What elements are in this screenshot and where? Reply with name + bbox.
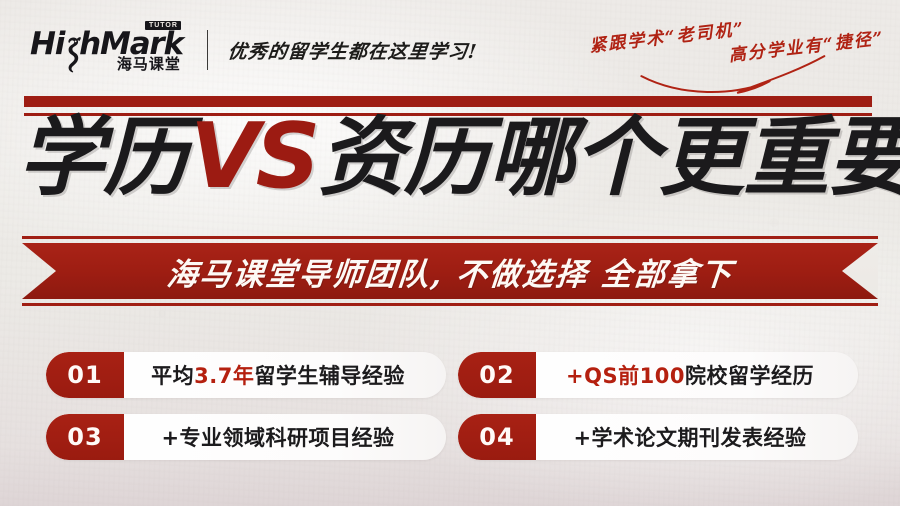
ribbon-notch-right [842,243,878,299]
header-divider [207,30,208,70]
header-tagline: 优秀的留学生都在这里学习! [227,37,479,64]
promo-banner: HihMark TUTOR 海马课堂 优秀的留学生都在这里学习! 紧跟学术“老司… [0,0,900,506]
feature-highlight: 3.7年 [194,364,254,388]
feature-text: 平均3.7年留学生辅导经验 [124,360,446,390]
feature-suffix: 院校留学经历 [685,364,814,388]
feature-prefix: 平均 [151,364,194,388]
feature-number-badge: 02 [458,352,536,398]
ribbon-rule-top [22,236,878,239]
logo-word-part1: Hi [30,26,64,62]
ribbon-text: 海马课堂导师团队, 不做选择 全部拿下 [165,249,735,294]
logo-word-part2: hMark [79,26,183,62]
feature-number-badge: 03 [46,414,124,460]
ribbon-body: 海马课堂导师团队, 不做选择 全部拿下 [22,243,878,299]
feature-prefix: +专业领域科研项目经验 [161,426,394,450]
headline-right: 资历哪个更重要 [318,108,900,208]
feature-text: +学术论文期刊发表经验 [536,422,858,452]
subtitle-ribbon: 海马课堂导师团队, 不做选择 全部拿下 [22,236,878,306]
feature-suffix: 留学生辅导经验 [254,364,405,388]
feature-number-badge: 04 [458,414,536,460]
headline-vs: VS [188,104,318,209]
feature-highlight: +QS前100 [566,364,685,388]
feature-prefix: +学术论文期刊发表经验 [573,426,806,450]
ribbon-rule-bottom [22,303,878,306]
list-item[interactable]: 04 +学术论文期刊发表经验 [458,414,858,460]
feature-text: +专业领域科研项目经验 [124,422,446,452]
banner-header: HihMark TUTOR 海马课堂 优秀的留学生都在这里学习! [30,24,477,76]
headline-left: 学历 [18,108,188,208]
tutor-badge: TUTOR [145,21,181,30]
list-item[interactable]: 03 +专业领域科研项目经验 [46,414,446,460]
list-item[interactable]: 02 +QS前100院校留学经历 [458,352,858,398]
list-item[interactable]: 01 平均3.7年留学生辅导经验 [46,352,446,398]
highmark-logo[interactable]: HihMark TUTOR 海马课堂 [30,29,183,72]
rule-thick [24,96,872,107]
feature-list: 01 平均3.7年留学生辅导经验 02 +QS前100院校留学经历 03 +专业… [46,352,858,460]
feature-number-badge: 01 [46,352,124,398]
logo-wordmark: HihMark TUTOR [30,29,183,60]
page-title: 学历VS资历哪个更重要 [18,112,888,202]
feature-text: +QS前100院校留学经历 [536,360,858,390]
